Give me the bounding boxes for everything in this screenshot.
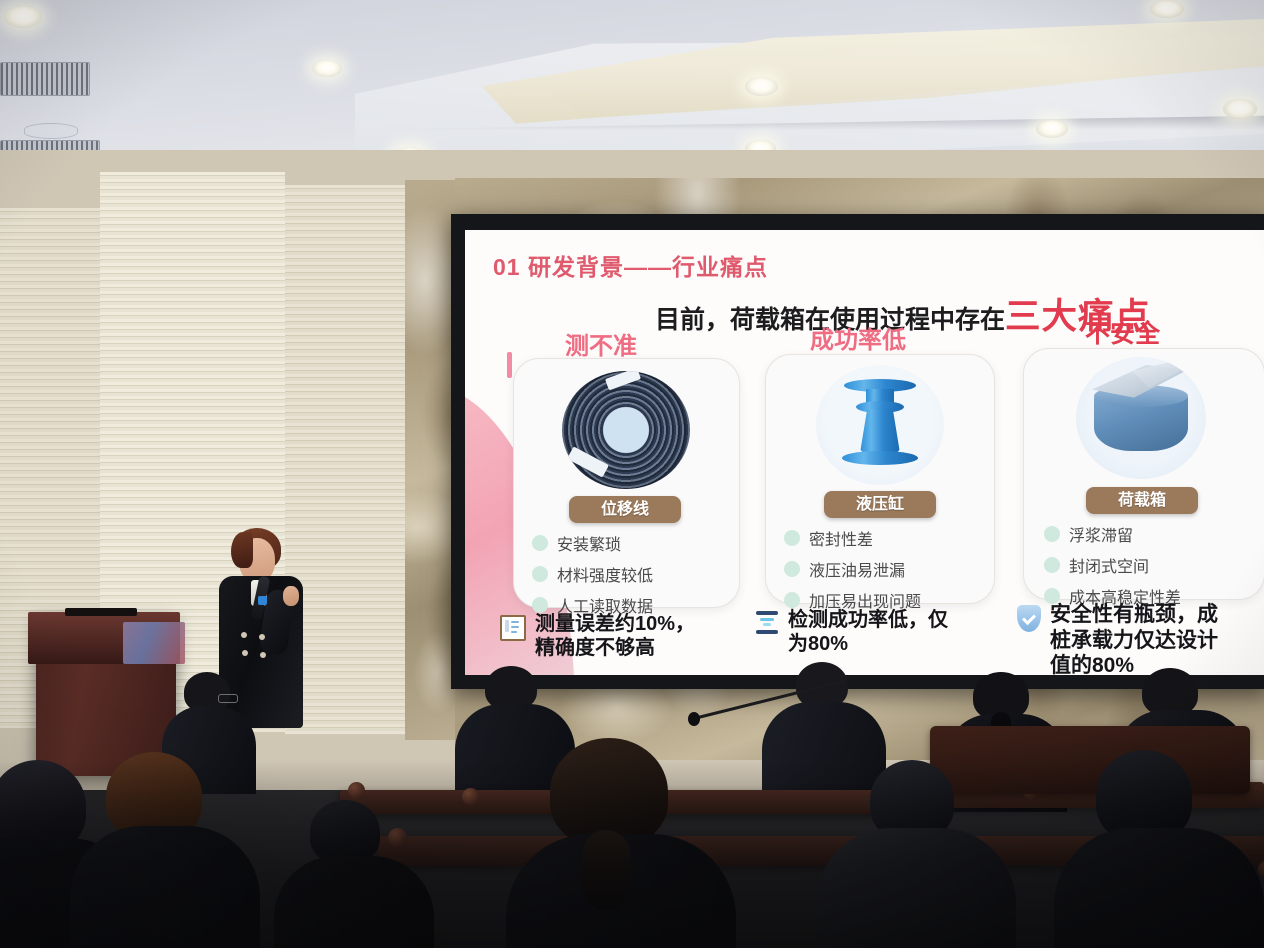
ceiling-speaker: [24, 123, 78, 139]
bench-armrest-knob: [1258, 860, 1264, 879]
card-caption-3: 安全性有瓶颈，成 桩承载力仅达设计 值的80%: [1017, 602, 1264, 675]
x-circle-icon: [784, 530, 800, 546]
pain-point-card-3: 荷载箱 浮浆滞留 封闭式空间 成本高稳定性差: [1023, 348, 1264, 600]
pain-point-card-2: 液压缸 密封性差 液压油易泄漏 加压易出现问题: [765, 354, 995, 604]
caption-text: 测量误差约10%， 精确度不够高: [535, 612, 695, 661]
load-cell-box-photo: [1076, 357, 1206, 479]
slide-accent-tick: [507, 352, 512, 378]
ponytail: [582, 830, 630, 910]
downlight: [745, 77, 778, 96]
photo-scene: 01 研发背景——行业痛点 目前，荷载箱在使用过程中存在三大痛点 测不准 成功率…: [0, 0, 1264, 948]
bullet-item: 液压油易泄漏: [784, 557, 921, 581]
shield-check-icon: [1017, 605, 1041, 632]
bench-armrest-knob: [348, 782, 365, 799]
card-caption-1: 测量误差约10%， 精确度不够高: [500, 612, 750, 661]
document-report-icon: [500, 615, 526, 641]
x-circle-icon: [1044, 557, 1060, 573]
downlight: [1223, 99, 1257, 119]
presenter-hand: [283, 586, 299, 606]
bullet-label: 浮浆滞留: [1069, 522, 1133, 546]
x-circle-icon: [532, 566, 548, 582]
bullet-item: 材料强度较低: [532, 562, 653, 586]
card-badge-3: 荷载箱: [1086, 487, 1198, 514]
x-circle-icon: [1044, 526, 1060, 542]
bullet-item: 浮浆滞留: [1044, 522, 1181, 546]
column-heading-2: 成功率低: [810, 320, 906, 355]
downlight: [1036, 120, 1068, 138]
podium-display: [123, 622, 185, 664]
signal-wave-icon: [755, 611, 779, 635]
bullet-item: 密封性差: [784, 526, 921, 550]
bullet-label: 封闭式空间: [1069, 553, 1149, 577]
slide-title: 01 研发背景——行业痛点: [493, 248, 768, 282]
bench-armrest-knob: [388, 828, 407, 847]
card-badge-1: 位移线: [569, 496, 681, 523]
bench-armrest-knob: [462, 788, 479, 805]
bullet-label: 液压油易泄漏: [809, 557, 905, 581]
displacement-wire-coil-photo: [562, 371, 690, 489]
slide: 01 研发背景——行业痛点 目前，荷载箱在使用过程中存在三大痛点 测不准 成功率…: [465, 230, 1264, 675]
column-heading-3: 不安全: [1085, 314, 1160, 350]
downlight: [4, 6, 42, 28]
glasses-icon: [218, 694, 238, 703]
bullet-label: 安装繁琐: [557, 531, 621, 555]
column-heading-1: 测不准: [565, 326, 637, 361]
x-circle-icon: [532, 597, 548, 613]
card-caption-2: 检测成功率低，仅 为80%: [755, 608, 1005, 657]
downlight: [312, 60, 342, 77]
x-circle-icon: [784, 592, 800, 608]
hydraulic-cylinder-photo: [816, 365, 944, 485]
bullet-label: 材料强度较低: [557, 562, 653, 586]
caption-text: 安全性有瓶颈，成 桩承载力仅达设计 值的80%: [1050, 602, 1218, 675]
card-badge-2: 液压缸: [824, 491, 936, 518]
x-circle-icon: [784, 561, 800, 577]
pain-point-card-1: 位移线 安装繁琐 材料强度较低 人工读取数据: [513, 358, 740, 608]
bench-backrest: [930, 726, 1250, 794]
air-vent: [0, 62, 90, 96]
bullet-item: 安装繁琐: [532, 531, 653, 555]
x-circle-icon: [532, 535, 548, 551]
bullet-item: 封闭式空间: [1044, 553, 1181, 577]
downlight: [1150, 0, 1184, 18]
bullet-label: 密封性差: [809, 526, 873, 550]
caption-text: 检测成功率低，仅 为80%: [788, 608, 948, 657]
presentation-screen: 01 研发背景——行业痛点 目前，荷载箱在使用过程中存在三大痛点 测不准 成功率…: [451, 214, 1264, 689]
